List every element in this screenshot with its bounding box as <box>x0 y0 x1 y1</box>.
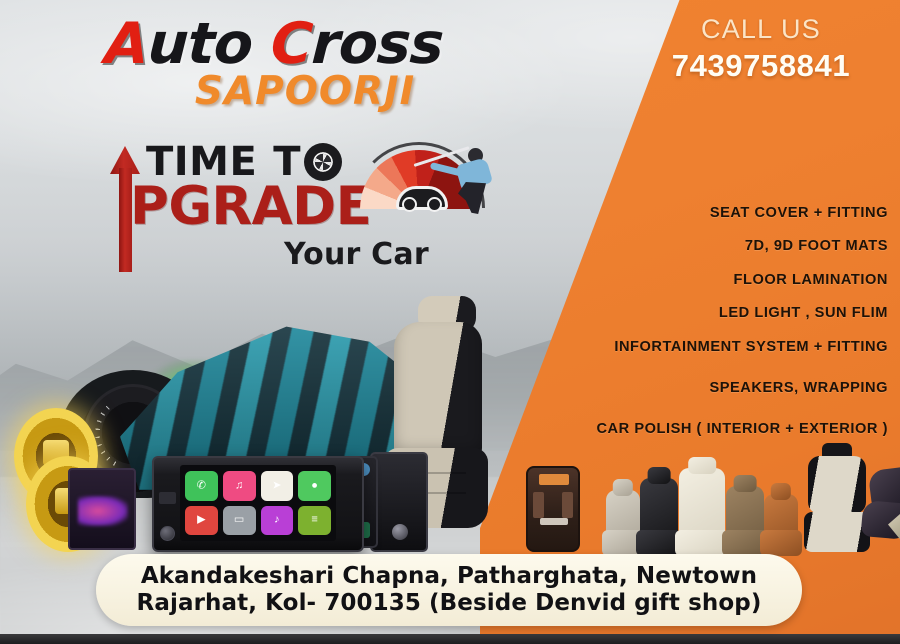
service-item-1: 7D, 9D FOOT MATS <box>528 230 888 264</box>
address-banner: Akandakeshari Chapna, Patharghata, Newto… <box>96 554 802 626</box>
advertisement-flyer: Auto Cross SAPOORJI TIME T PGRADE Your C… <box>0 0 900 644</box>
phone-app-glyph: ✆ <box>197 480 206 491</box>
service-item-6: CAR POLISH ( INTERIOR + EXTERIOR ) <box>528 405 888 446</box>
music-app: ♫ <box>223 471 256 501</box>
now-playing-app-glyph: ▶ <box>197 515 205 526</box>
left-display-unit-image <box>68 468 136 550</box>
product-seat-cover-tan <box>726 486 764 552</box>
service-item-3: LED LIGHT , SUN FLIM <box>528 297 888 331</box>
now-playing-app: ▶ <box>185 506 218 536</box>
infotainment-head-unit-image: ✆♫➤●▶▭♪≡ <box>152 456 364 552</box>
messages-app-glyph: ● <box>311 480 318 491</box>
tire-wheel-icon <box>304 143 342 181</box>
product-seat-cover-black <box>640 478 678 552</box>
call-us-block: CALL US 7439758841 <box>636 14 886 84</box>
logo-text-uto: uto <box>146 11 253 77</box>
address-line-1: Akandakeshari Chapna, Patharghata, Newto… <box>141 563 757 590</box>
maps-app: ➤ <box>261 471 294 501</box>
product-seat-cover-gray <box>606 490 640 552</box>
podcasts-app-glyph: ♪ <box>274 515 280 526</box>
carplay-app-grid: ✆♫➤●▶▭♪≡ <box>180 465 336 541</box>
spotify-app: ≡ <box>298 506 331 536</box>
person-pulling-needle-icon <box>452 148 498 216</box>
service-item-4: INFORTAINMENT SYSTEM + FITTING <box>528 330 888 364</box>
product-showcase-row <box>518 446 894 552</box>
service-item-0: SEAT COVER + FITTING <box>528 196 888 230</box>
right-stereo-unit-image <box>370 452 428 552</box>
maps-app-glyph: ➤ <box>272 480 281 491</box>
phone-app: ✆ <box>185 471 218 501</box>
spotify-app-glyph: ≡ <box>311 515 317 526</box>
music-app-glyph: ♫ <box>235 480 243 491</box>
up-arrow-icon <box>110 146 140 272</box>
logo-text-ross: ross <box>310 11 445 77</box>
logo-wordmark: Auto Cross <box>104 16 567 73</box>
logo-letter-c: C <box>269 11 313 77</box>
speedometer-gauge-graphic <box>352 136 492 232</box>
product-seat-organizer <box>526 466 580 552</box>
podcasts-app: ♪ <box>261 506 294 536</box>
call-us-label: CALL US <box>636 14 886 45</box>
services-list: SEAT COVER + FITTING7D, 9D FOOT MATSFLOO… <box>528 196 888 446</box>
address-line-2: Rajarhat, Kol- 700135 (Beside Denvid gif… <box>137 590 762 617</box>
phone-mirror-app: ▭ <box>223 506 256 536</box>
service-item-2: FLOOR LAMINATION <box>528 263 888 297</box>
phone-number[interactable]: 7439758841 <box>636 48 886 84</box>
tagline-line-3: Your Car <box>284 237 488 272</box>
brand-logo: Auto Cross SAPOORJI <box>105 16 565 114</box>
product-seat-cover-orange <box>764 494 798 552</box>
phone-mirror-app-glyph: ▭ <box>234 515 244 526</box>
service-item-5: SPEAKERS, WRAPPING <box>528 364 888 405</box>
car-icon <box>396 186 448 210</box>
volume-knob-icon <box>160 526 175 541</box>
bottom-dark-strip <box>0 634 900 644</box>
product-seat-cover-beige-black <box>804 456 870 552</box>
product-seat-cover-cream <box>679 468 725 552</box>
logo-letter-a: A <box>103 11 150 77</box>
messages-app: ● <box>298 471 331 501</box>
